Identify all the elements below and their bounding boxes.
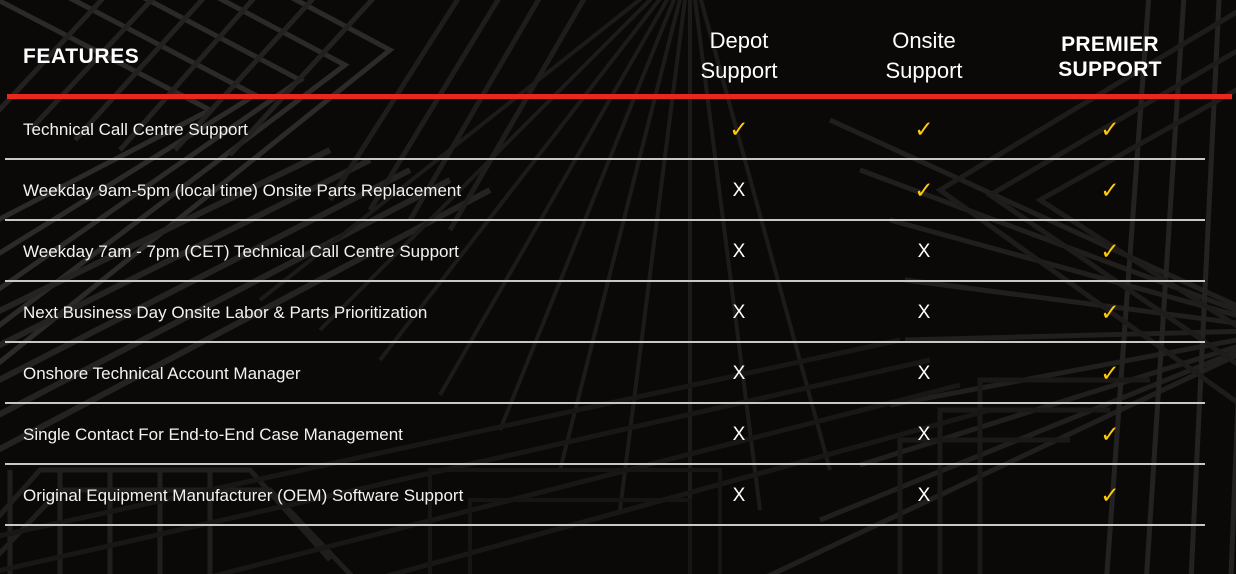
cross-icon: X bbox=[634, 404, 844, 465]
feature-label: Weekday 9am-5pm (local time) Onsite Part… bbox=[23, 160, 461, 221]
row-separator bbox=[5, 341, 1205, 343]
row-separator bbox=[5, 280, 1205, 282]
cross-icon: X bbox=[634, 343, 844, 404]
check-icon: ✓ bbox=[634, 99, 844, 160]
column-header-depot-support: Depot Support bbox=[634, 26, 844, 86]
cross-icon: X bbox=[819, 465, 1029, 526]
cross-icon: X bbox=[634, 160, 844, 221]
cross-icon: X bbox=[819, 404, 1029, 465]
check-icon: ✓ bbox=[819, 160, 1029, 221]
cross-icon: X bbox=[819, 282, 1029, 343]
table-row: Original Equipment Manufacturer (OEM) So… bbox=[0, 465, 1236, 526]
feature-label: Onshore Technical Account Manager bbox=[23, 343, 301, 404]
column-header-depot-support-line2: Support bbox=[634, 56, 844, 86]
table-row: Technical Call Centre Support✓✓✓ bbox=[0, 99, 1236, 160]
support-comparison-table: FEATURES Depot Support Onsite Support PR… bbox=[0, 0, 1236, 574]
row-separator bbox=[5, 158, 1205, 160]
table-row: Weekday 9am-5pm (local time) Onsite Part… bbox=[0, 160, 1236, 221]
check-icon: ✓ bbox=[1005, 99, 1215, 160]
cross-icon: X bbox=[819, 343, 1029, 404]
check-icon: ✓ bbox=[1005, 404, 1215, 465]
feature-label: Weekday 7am - 7pm (CET) Technical Call C… bbox=[23, 221, 459, 282]
check-icon: ✓ bbox=[1005, 343, 1215, 404]
row-separator bbox=[5, 219, 1205, 221]
feature-label: Next Business Day Onsite Labor & Parts P… bbox=[23, 282, 427, 343]
check-icon: ✓ bbox=[1005, 282, 1215, 343]
table-row: Weekday 7am - 7pm (CET) Technical Call C… bbox=[0, 221, 1236, 282]
page-title: FEATURES bbox=[23, 45, 139, 69]
column-header-premier-support-line1: PREMIER bbox=[1061, 33, 1159, 56]
column-header-premier-support: PREMIER SUPPORT bbox=[1005, 32, 1215, 82]
header-red-divider bbox=[7, 94, 1232, 99]
column-header-onsite-support: Onsite Support bbox=[819, 26, 1029, 86]
column-header-premier-support-line2: SUPPORT bbox=[1005, 57, 1215, 82]
row-separator bbox=[5, 402, 1205, 404]
check-icon: ✓ bbox=[819, 99, 1029, 160]
cross-icon: X bbox=[634, 282, 844, 343]
table-row: Single Contact For End-to-End Case Manag… bbox=[0, 404, 1236, 465]
cross-icon: X bbox=[634, 221, 844, 282]
column-header-onsite-support-line1: Onsite bbox=[892, 28, 956, 53]
feature-label: Technical Call Centre Support bbox=[23, 99, 248, 160]
check-icon: ✓ bbox=[1005, 465, 1215, 526]
check-icon: ✓ bbox=[1005, 160, 1215, 221]
feature-label: Original Equipment Manufacturer (OEM) So… bbox=[23, 465, 463, 526]
check-icon: ✓ bbox=[1005, 221, 1215, 282]
cross-icon: X bbox=[819, 221, 1029, 282]
feature-label: Single Contact For End-to-End Case Manag… bbox=[23, 404, 403, 465]
row-separator bbox=[5, 463, 1205, 465]
table-row: Next Business Day Onsite Labor & Parts P… bbox=[0, 282, 1236, 343]
column-header-depot-support-line1: Depot bbox=[710, 28, 769, 53]
row-separator bbox=[5, 524, 1205, 526]
cross-icon: X bbox=[634, 465, 844, 526]
feature-matrix: FEATURES Depot Support Onsite Support PR… bbox=[0, 0, 1236, 574]
table-row: Onshore Technical Account ManagerXX✓ bbox=[0, 343, 1236, 404]
column-header-onsite-support-line2: Support bbox=[819, 56, 1029, 86]
table-header-row: FEATURES Depot Support Onsite Support PR… bbox=[0, 0, 1236, 95]
